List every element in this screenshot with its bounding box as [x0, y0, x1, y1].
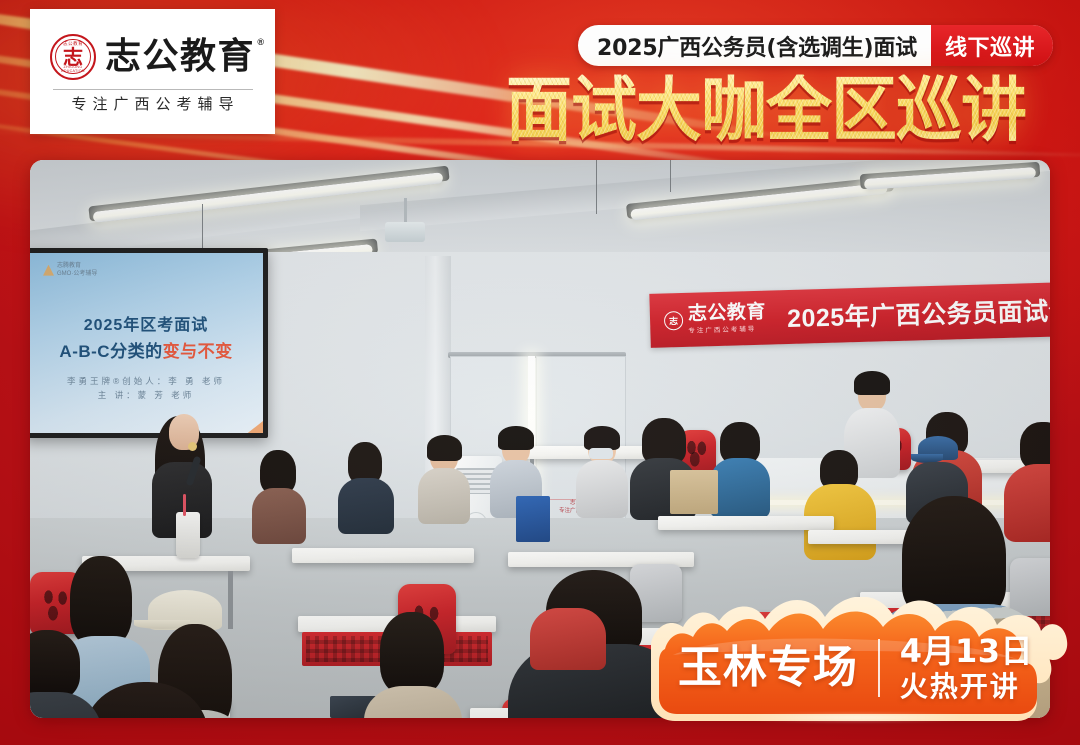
body: [338, 478, 394, 534]
hair: [70, 556, 132, 646]
logo-row: 志公教育 志 ZHIGONG EDUCATION 志公教育 ®: [50, 34, 255, 80]
pill-main-text: 2025广西公务员(含选调生)面试: [578, 25, 931, 66]
body: [576, 460, 628, 518]
screen-logo: 志腾教育 GMO·公考辅导: [43, 262, 97, 278]
wall-banner-logo: 志 志公教育 专注广西公考辅导: [650, 302, 776, 335]
lamp-wire: [670, 160, 671, 192]
body: [1004, 464, 1050, 542]
badge-slogan: 火热开讲: [900, 672, 1033, 701]
body: [252, 488, 306, 544]
badge-content: 玉林专场 4月13日 火热开讲: [645, 625, 1070, 711]
header-pill: 2025广西公务员(含选调生)面试 线下巡讲: [578, 25, 1053, 66]
screen-line-4: 主 讲：蒙 芳 老师: [30, 389, 263, 401]
screen-line-3: 李勇王牌®创始人：李 勇 老师: [30, 375, 263, 387]
city-session-badge: 玉林专场 4月13日 火热开讲: [645, 597, 1070, 725]
brand-logo-card: 志公教育 志 ZHIGONG EDUCATION 志公教育 ® 专注广西公考辅导: [30, 9, 275, 134]
microphone-icon: [188, 442, 197, 451]
brand-name-wrap: 志公教育 ®: [105, 39, 255, 75]
screen-logo-mark-icon: [43, 265, 54, 276]
hair: [30, 630, 80, 700]
body: [530, 608, 606, 670]
blue-bag: [516, 496, 550, 542]
projector-icon: [385, 222, 425, 242]
pill-tag-badge: 线下巡讲: [931, 25, 1053, 66]
badge-shine: [747, 714, 968, 721]
screen-line-2-highlight: 变与不变: [163, 342, 233, 361]
lamp-wire: [202, 204, 203, 252]
screen-logo-top: 志腾教育: [57, 263, 81, 269]
projector-screen: 志腾教育 GMO·公考辅导 2025年区考面试 A-B-C分类的变与不变 李勇王…: [30, 253, 263, 433]
brand-name: 志公教育: [105, 36, 255, 77]
seal-icon: 志: [664, 310, 684, 330]
seal-icon: 志公教育 志 ZHIGONG EDUCATION: [50, 34, 96, 80]
seal-character: 志: [62, 47, 84, 67]
cabinet-light: [730, 500, 1050, 505]
wall-banner-sub: 专注广西公考辅导: [688, 323, 766, 335]
paper-bag: [670, 470, 718, 514]
screen-line-2: A-B-C分类的变与不变: [30, 337, 263, 362]
desk: [292, 548, 474, 563]
badge-date: 4月13日: [900, 635, 1033, 669]
face-mask-icon: [589, 448, 613, 459]
screen-line-1: 2025年区考面试: [30, 311, 263, 335]
lamp-wire: [596, 160, 597, 214]
wall-banner-brand-block: 志公教育 专注广西公考辅导: [688, 303, 767, 335]
logo-divider: [53, 89, 253, 90]
hair: [854, 371, 890, 395]
wall-banner-divider: [777, 300, 778, 334]
brand-tagline: 专注广西公考辅导: [65, 97, 239, 112]
drink-cup: [176, 512, 200, 558]
main-title-text: 面试大咖全区巡讲: [506, 74, 1026, 145]
straw: [183, 494, 186, 516]
main-title: 面试大咖全区巡讲: [506, 72, 1072, 148]
badge-separator: [878, 639, 880, 697]
wall-banner: 志 志公教育 专注广西公考辅导 2025年广西公务员面试全区巡讲·5: [649, 282, 1050, 348]
badge-city: 玉林专场: [678, 646, 858, 690]
badge-dates: 4月13日 火热开讲: [900, 635, 1033, 701]
hair: [498, 426, 534, 450]
hair: [584, 426, 620, 450]
projector-screen-frame: 志腾教育 GMO·公考辅导 2025年区考面试 A-B-C分类的变与不变 李勇王…: [30, 248, 268, 438]
wall-banner-brand: 志公教育: [688, 303, 767, 325]
registered-mark-icon: ®: [257, 37, 264, 47]
projector-rod: [404, 198, 407, 224]
desk: [658, 516, 834, 530]
screen-line-2-plain: A-B-C分类的: [59, 342, 162, 361]
seal-top-text: 志公教育: [52, 41, 94, 47]
body: [418, 468, 470, 524]
body: [710, 458, 770, 518]
wall-banner-text: 2025年广西公务员面试全区巡讲·5: [787, 288, 1050, 335]
screen-logo-bottom: GMO·公考辅导: [57, 271, 97, 277]
seal-bottom-text: ZHIGONG EDUCATION: [52, 65, 94, 73]
hair: [1020, 422, 1050, 470]
hair: [427, 435, 462, 461]
poster-root: 志公教育 志 ZHIGONG EDUCATION 志公教育 ® 专注广西公考辅导…: [0, 0, 1080, 745]
screen-logo-text: 志腾教育 GMO·公考辅导: [57, 262, 97, 278]
desk-leg: [228, 571, 233, 629]
hair: [380, 612, 444, 694]
